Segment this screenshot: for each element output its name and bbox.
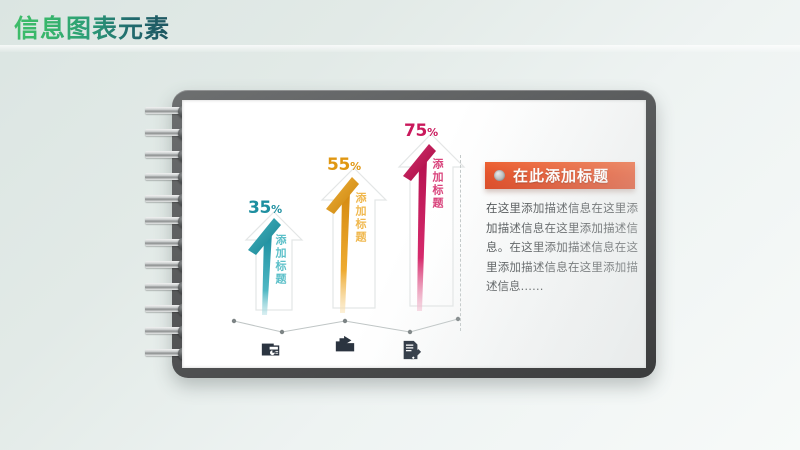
section-title-banner[interactable]: 在此添加标题 (485, 162, 635, 189)
bullet-circle-icon (494, 170, 505, 181)
section-body-text: 在这里添加描述信息在这里添加描述信息在这里添加描述信息。在这里添加描述信息在这里… (486, 199, 638, 297)
title-divider (0, 45, 800, 52)
slide-title-bar: 信息图表元素 (0, 0, 800, 46)
folder-arrow-icon[interactable] (334, 334, 356, 356)
report-chart-icon[interactable] (260, 339, 282, 361)
section-title-text: 在此添加标题 (513, 165, 609, 186)
page-title: 信息图表元素 (14, 9, 170, 45)
notebook-page: 35% 55% 75% 添加标题 添加标题 添加标题 (182, 100, 646, 368)
panel-divider (460, 155, 461, 331)
document-pen-icon[interactable] (400, 339, 422, 361)
notebook-frame: 35% 55% 75% 添加标题 添加标题 添加标题 (172, 90, 656, 378)
